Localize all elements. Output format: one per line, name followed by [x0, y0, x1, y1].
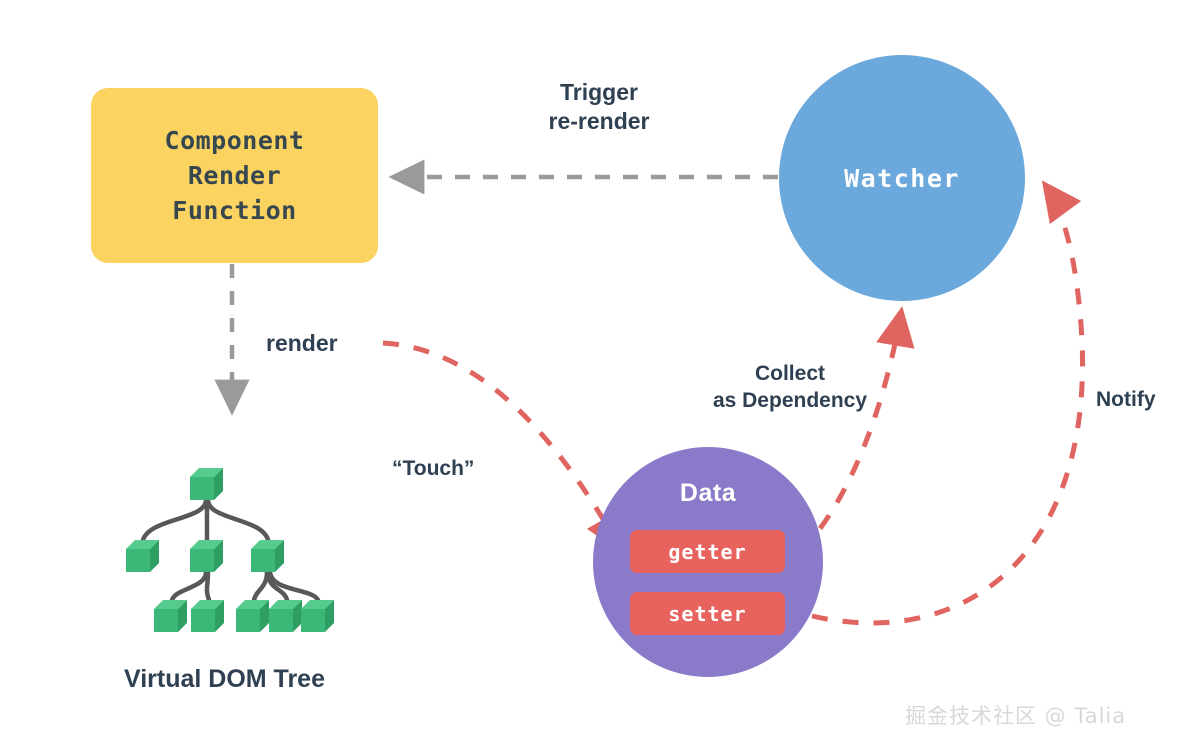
tree-node-level2 [126, 540, 284, 572]
edge-label-collect-as-dependency: Collect as Dependency [672, 361, 908, 415]
edge-touch [383, 343, 620, 548]
tree-node-root [190, 468, 223, 500]
tree-links [143, 500, 318, 600]
watcher-label: Watcher [844, 164, 960, 193]
component-render-function-node[interactable]: Component Render Function [91, 88, 378, 263]
getter-box[interactable]: getter [630, 530, 785, 573]
setter-box[interactable]: setter [630, 592, 785, 635]
watermark: 掘金技术社区 @ Talia [905, 700, 1126, 730]
edge-collect-as-dependency [800, 313, 901, 552]
virtual-dom-tree-label: Virtual DOM Tree [124, 663, 325, 695]
diagram-canvas: Component Render Function Watcher Data g… [0, 0, 1200, 750]
edge-label-render: render [266, 329, 338, 358]
edge-label-notify: Notify [1096, 387, 1156, 414]
edge-label-touch: “Touch” [392, 456, 474, 483]
edge-label-trigger-re-render: Trigger re-render [482, 78, 716, 137]
component-render-function-label: Component Render Function [165, 123, 305, 228]
data-label: Data [593, 479, 823, 508]
tree-node-level3 [154, 600, 334, 632]
watcher-node[interactable]: Watcher [779, 55, 1025, 301]
data-node[interactable]: Data getter setter [593, 447, 823, 677]
